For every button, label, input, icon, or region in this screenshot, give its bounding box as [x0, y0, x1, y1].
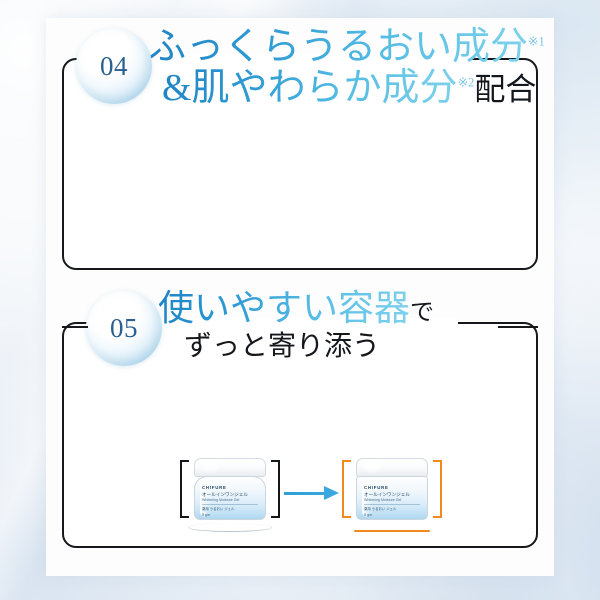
after-jar-graphic: CHIFURE オールインワンジェル Whitening Moisture Ge…: [356, 458, 428, 520]
before-jar-body: CHIFURE オールインワンジェル Whitening Moisture Ge…: [194, 476, 266, 520]
before-jar: CHIFURE オールインワンジェル Whitening Moisture Ge…: [178, 450, 282, 538]
before-jar-label: CHIFURE オールインワンジェル Whitening Moisture Ge…: [202, 485, 258, 517]
heading-05-line1-tail: で: [410, 300, 434, 326]
after-bracket-right-icon: [433, 460, 442, 518]
heading-04-line1-text: ふっくらうるおい成分: [148, 26, 528, 68]
after-jar-label: CHIFURE オールインワンジェル Whitening Moisture Ge…: [364, 485, 420, 517]
section-heading-05: 05 使いやすい容器で ずっと寄り添う: [86, 290, 434, 366]
section-badge-04: 04: [76, 28, 152, 104]
before-bracket-right-icon: [271, 460, 280, 518]
page-background: 04 ふっくらうるおい成分※1 &肌やわらか成分※2配合 べたつきにくいジェルが…: [0, 0, 600, 600]
heading-04-line1-sup: ※1: [528, 34, 545, 48]
after-bracket-left-icon: [342, 460, 351, 518]
before-jar-volume: 5 g/e: [202, 513, 258, 517]
before-jar-lid: [194, 458, 266, 477]
after-jar: CHIFURE オールインワンジェル Whitening Moisture Ge…: [340, 450, 444, 538]
before-jar-base-shadow: [188, 523, 272, 532]
heading-05-line1-text: 使いやすい容器: [158, 288, 410, 328]
section-05-heading-line2: ずっと寄り添う: [184, 333, 434, 362]
section-heading-04: 04 ふっくらうるおい成分※1 &肌やわらか成分※2配合: [76, 28, 545, 108]
section-05-heading-line1: 使いやすい容器で: [158, 290, 434, 327]
section-badge-number-05: 05: [110, 313, 138, 344]
before-jar-brand: CHIFURE: [202, 485, 258, 491]
heading-04-line2-tail: 配合: [474, 72, 536, 107]
section-badge-number-04: 04: [100, 51, 128, 82]
after-jar-brand: CHIFURE: [364, 485, 420, 491]
heading-04-line2-text: &肌やわらか成分: [162, 67, 458, 109]
heading-04-line2-sup: ※2: [458, 75, 475, 89]
before-jar-name-en: Whitening Moisture Gel: [202, 498, 258, 505]
section-04-heading-line2: &肌やわらか成分※2配合: [162, 69, 545, 108]
product-comparison: CHIFURE オールインワンジェル Whitening Moisture Ge…: [62, 448, 538, 540]
after-jar-highlight-bar: [354, 530, 430, 533]
after-jar-lid: [356, 458, 428, 477]
after-jar-body: CHIFURE オールインワンジェル Whitening Moisture Ge…: [356, 476, 428, 520]
before-jar-graphic: CHIFURE オールインワンジェル Whitening Moisture Ge…: [194, 458, 266, 520]
section-04-heading-line1: ふっくらうるおい成分※1: [148, 28, 545, 67]
before-jar-sub: 薬用 うるおい ジェル: [202, 507, 258, 512]
after-jar-name-en: Whitening Moisture Gel: [364, 498, 420, 505]
section-05-rule-right: [498, 326, 538, 328]
after-jar-volume: 5 g/e: [364, 513, 420, 517]
before-bracket-left-icon: [180, 460, 189, 518]
after-jar-sub: 薬用 うるおい ジェル: [364, 507, 420, 512]
arrow-head: [324, 486, 339, 500]
section-05-rule-left: [62, 326, 88, 328]
section-badge-05: 05: [86, 290, 162, 366]
arrow-right-icon: [284, 484, 342, 504]
